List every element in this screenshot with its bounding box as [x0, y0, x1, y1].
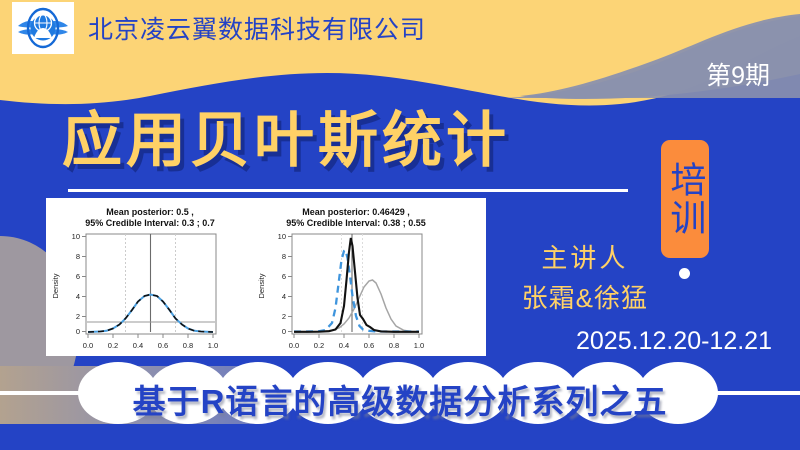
training-badge-label: 培训	[667, 161, 704, 237]
svg-text:0.0: 0.0	[83, 341, 93, 350]
svg-text:2: 2	[282, 312, 286, 321]
svg-text:0.2: 0.2	[314, 341, 324, 350]
svg-text:0.6: 0.6	[158, 341, 168, 350]
left-plot-ylabel: Density	[51, 273, 60, 298]
svg-text:0: 0	[282, 327, 286, 336]
company-name: 北京凌云翼数据科技有限公司	[88, 10, 426, 46]
svg-text:0.0: 0.0	[289, 341, 299, 350]
svg-text:2: 2	[76, 312, 80, 321]
svg-text:1.0: 1.0	[208, 341, 218, 350]
speaker-role-label: 主讲人	[522, 238, 648, 275]
svg-text:1.0: 1.0	[414, 341, 424, 350]
page-title: 应用贝叶斯统计	[62, 92, 510, 179]
svg-text:6: 6	[282, 272, 286, 281]
chart-panel: Mean posterior: 0.5 , 95% Credible Inter…	[46, 198, 486, 356]
right-plot-title-line1: Mean posterior: 0.46429 ,	[302, 207, 410, 217]
training-badge: 培训	[661, 140, 709, 258]
svg-text:6: 6	[76, 272, 80, 281]
left-plot-title-line2: 95% Credible Interval: 0.3 ; 0.7	[85, 218, 215, 228]
svg-text:0.6: 0.6	[364, 341, 374, 350]
header-band: 北京凌云翼数据科技有限公司	[0, 0, 800, 56]
svg-text:0.4: 0.4	[339, 341, 349, 350]
series-title: 基于R语言的高级数据分析系列之五	[0, 375, 800, 423]
course-date: 2025.12.20-12.21	[576, 327, 772, 356]
decorative-dot	[679, 268, 690, 279]
company-logo	[12, 2, 74, 54]
left-plot-title-line1: Mean posterior: 0.5 ,	[106, 207, 194, 217]
speaker-names: 张霜&徐猛	[522, 278, 648, 315]
svg-text:0: 0	[76, 327, 80, 336]
svg-text:10: 10	[278, 232, 286, 241]
svg-text:0.8: 0.8	[183, 341, 193, 350]
speaker-block: 主讲人 张霜&徐猛	[522, 238, 648, 315]
poster-canvas: 北京凌云翼数据科技有限公司 第9期 应用贝叶斯统计 培训 主讲人 张霜&徐猛 2…	[0, 0, 800, 450]
title-divider	[68, 189, 628, 192]
svg-text:4: 4	[282, 292, 286, 301]
svg-text:4: 4	[76, 292, 80, 301]
density-plots-figure: Mean posterior: 0.5 , 95% Credible Inter…	[46, 198, 486, 356]
svg-text:10: 10	[72, 232, 80, 241]
right-plot-title-line2: 95% Credible Interval: 0.38 ; 0.55	[286, 218, 426, 228]
right-plot-ylabel: Density	[257, 273, 266, 298]
svg-text:0.2: 0.2	[108, 341, 118, 350]
bottom-blue-fill	[0, 424, 800, 450]
svg-text:0.4: 0.4	[133, 341, 143, 350]
winged-globe-icon	[16, 6, 70, 50]
svg-text:8: 8	[76, 252, 80, 261]
issue-number-label: 第9期	[706, 56, 770, 92]
svg-text:0.8: 0.8	[389, 341, 399, 350]
svg-text:8: 8	[282, 252, 286, 261]
